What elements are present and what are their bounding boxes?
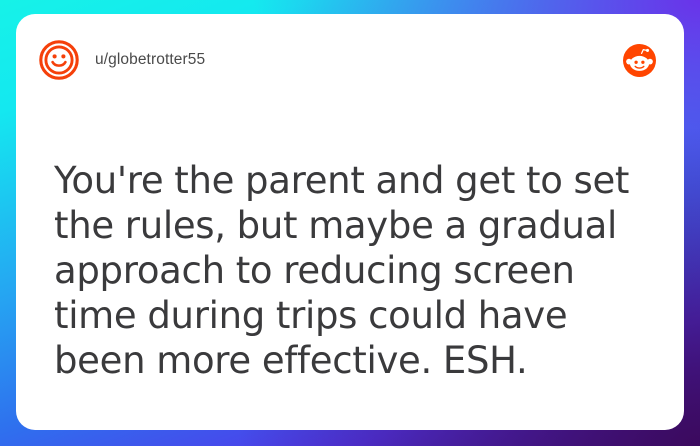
username-label: u/globetrotter55 xyxy=(95,51,205,69)
post-header: u/globetrotter55 xyxy=(16,14,684,106)
screenshot-root: u/globetrotter55 xyxy=(0,0,700,446)
reddit-post-card: u/globetrotter55 xyxy=(16,14,684,430)
post-body-text: You're the parent and get to set the rul… xyxy=(54,158,650,383)
avatar xyxy=(38,39,80,81)
reddit-snoo-icon xyxy=(623,44,656,77)
